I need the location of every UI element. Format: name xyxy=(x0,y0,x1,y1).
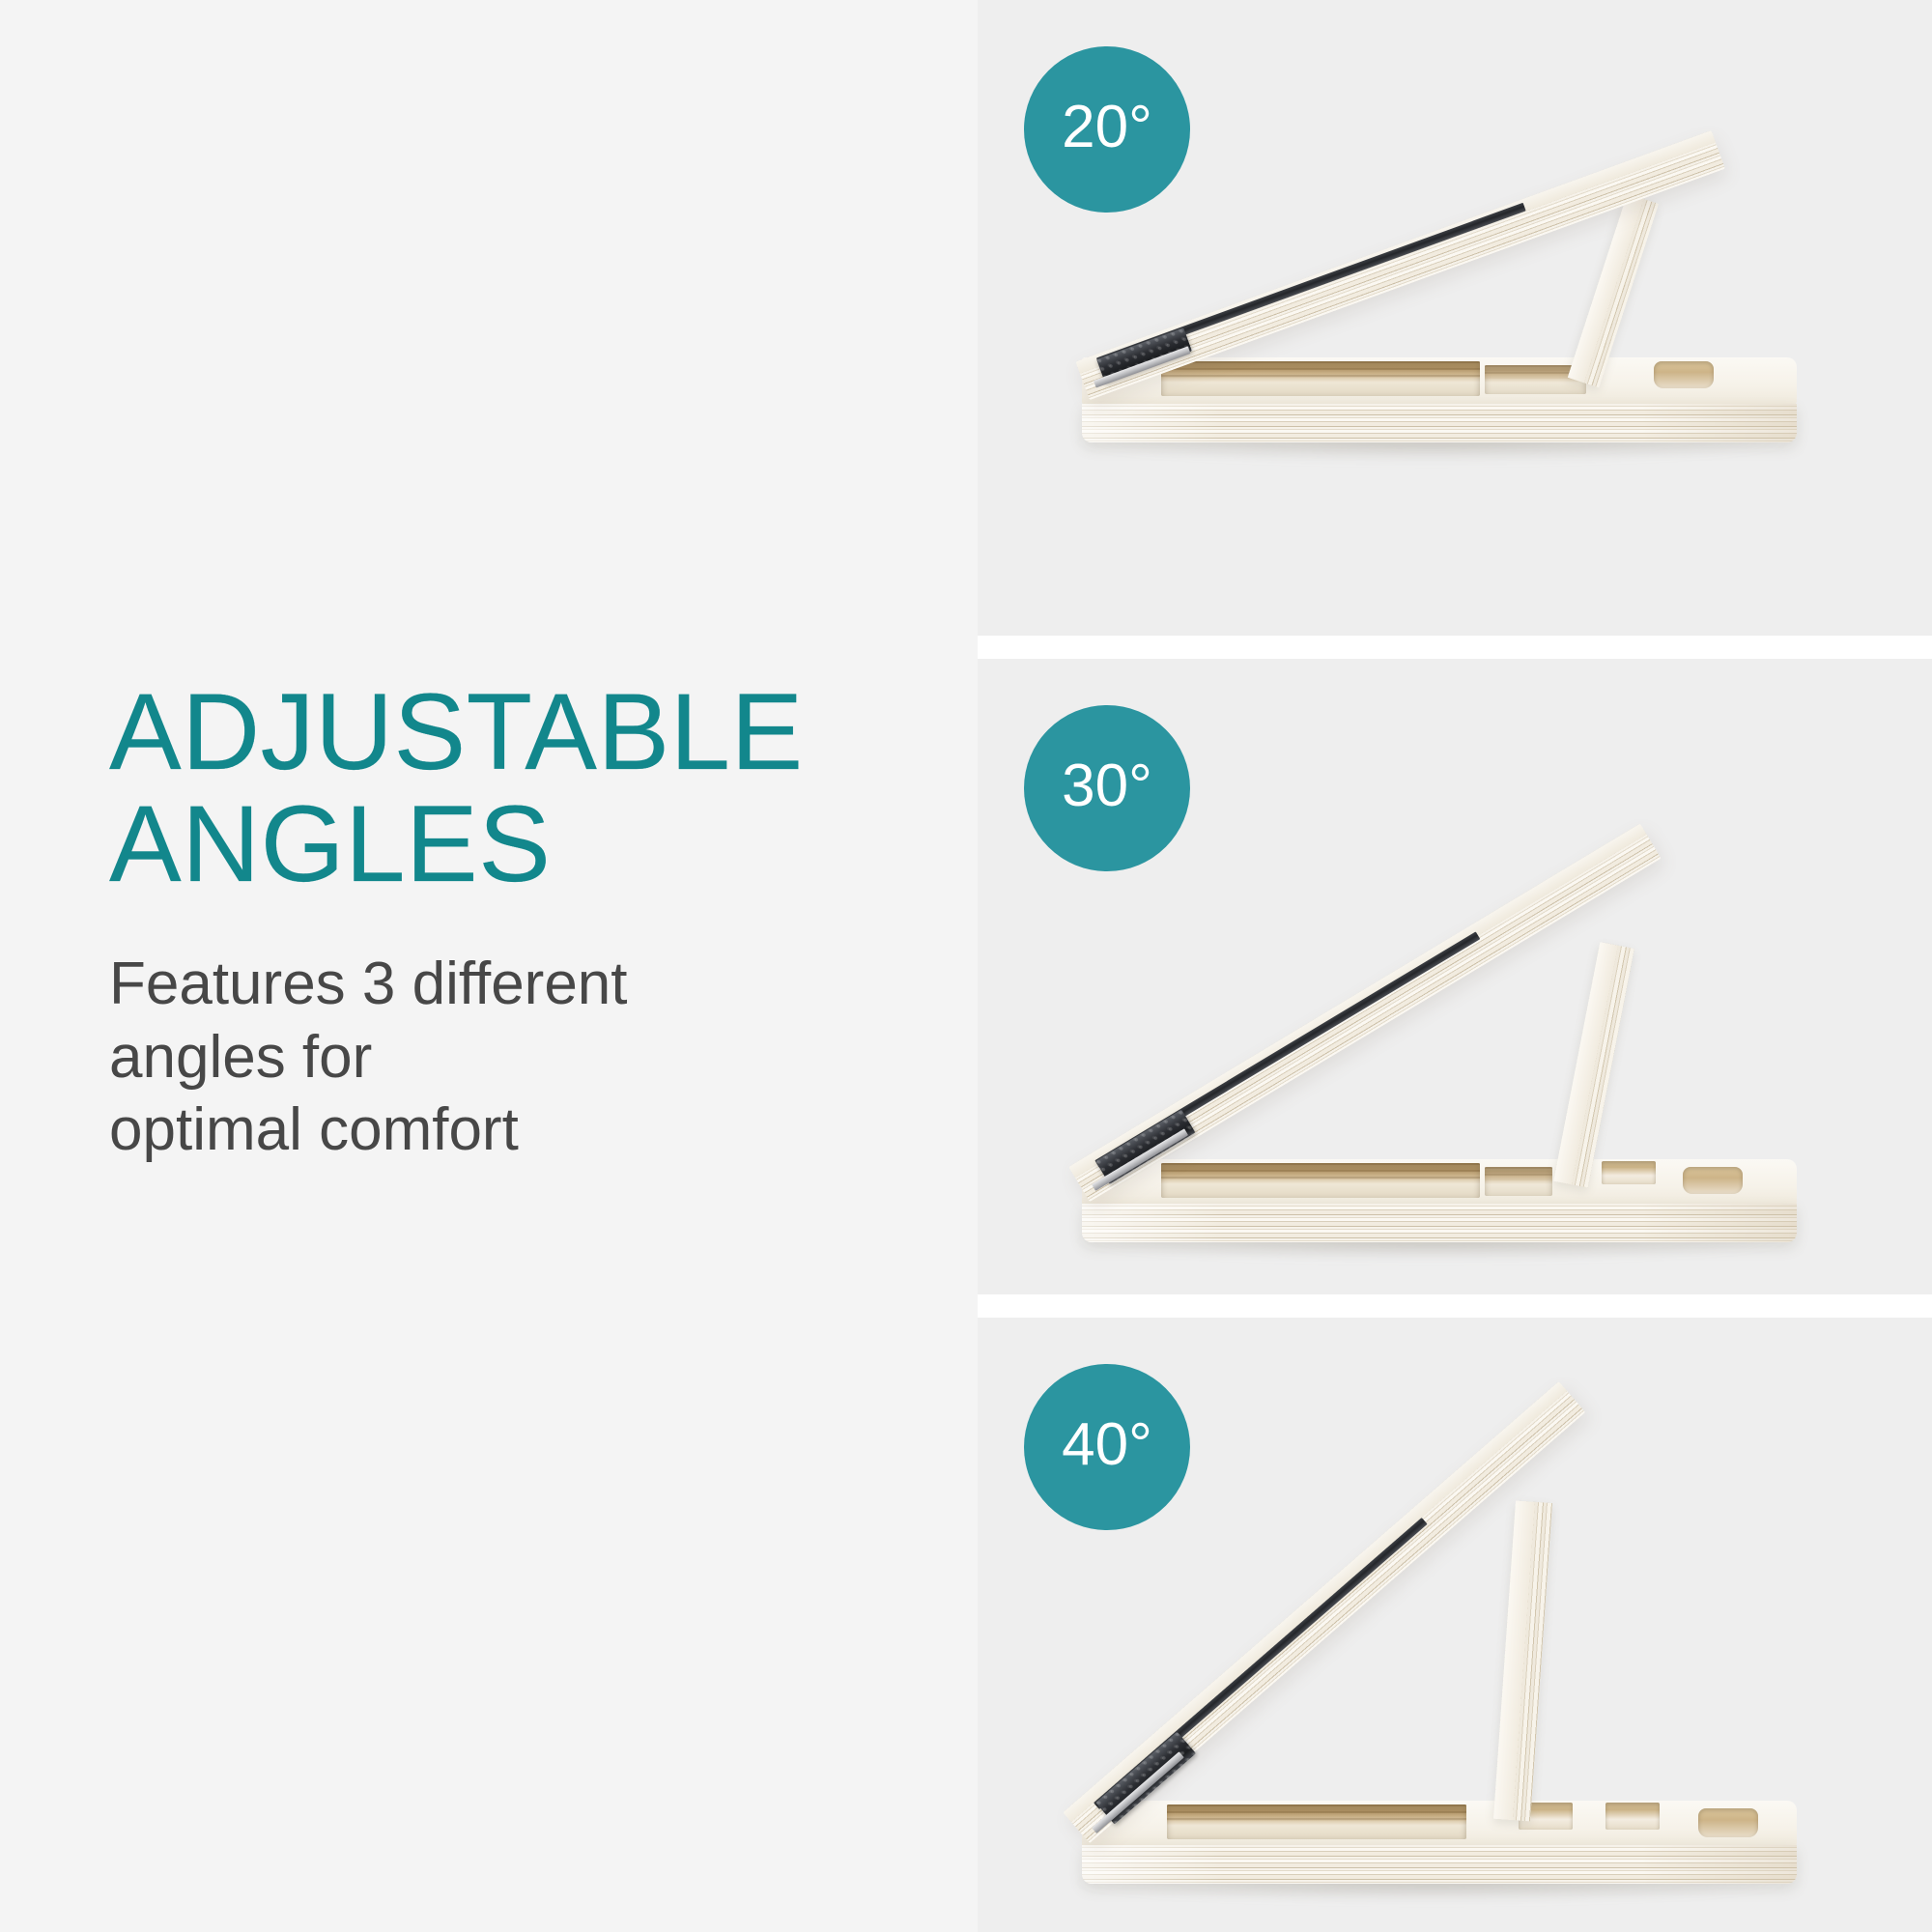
base-slot-2 xyxy=(1605,1803,1660,1830)
text-column: ADJUSTABLE ANGLES Features 3 different a… xyxy=(0,0,978,1932)
base-slot-1 xyxy=(1602,1161,1656,1184)
product-panel-20: 20° xyxy=(978,0,1932,636)
support-leg xyxy=(1493,1500,1552,1821)
base-front-edge xyxy=(1082,404,1797,442)
base-slot-round xyxy=(1683,1167,1743,1194)
angle-badge-label: 40° xyxy=(1062,1415,1152,1479)
page-title: ADJUSTABLE ANGLES xyxy=(109,676,901,901)
angle-badge-40: 40° xyxy=(1024,1364,1190,1530)
base-cavity xyxy=(1167,1804,1466,1839)
base-front-edge xyxy=(1082,1204,1797,1242)
base-cavity xyxy=(1161,1163,1480,1198)
base-cavity xyxy=(1161,361,1480,396)
angle-badge-label: 30° xyxy=(1062,756,1152,820)
angle-badge-20: 20° xyxy=(1024,46,1190,213)
product-panel-40: 40° xyxy=(978,1318,1932,1932)
cavity-grain xyxy=(1161,1163,1480,1179)
cavity-grain xyxy=(1167,1804,1466,1821)
base-slot-round xyxy=(1698,1808,1758,1837)
base-slot-round xyxy=(1654,361,1714,388)
product-panel-30: 30° xyxy=(978,659,1932,1294)
photo-panel-column: 20° xyxy=(978,0,1932,1932)
cavity-grain xyxy=(1485,1167,1552,1180)
support-leg xyxy=(1553,942,1634,1187)
text-block: ADJUSTABLE ANGLES Features 3 different a… xyxy=(109,676,901,1167)
cavity-grain xyxy=(1161,361,1480,378)
base-front-edge xyxy=(1082,1845,1797,1884)
angle-badge-30: 30° xyxy=(1024,705,1190,871)
infographic-root: ADJUSTABLE ANGLES Features 3 different a… xyxy=(0,0,1932,1932)
page-subtitle: Features 3 different angles for optimal … xyxy=(109,901,901,1167)
angle-badge-label: 20° xyxy=(1062,98,1152,161)
base-cavity-secondary xyxy=(1485,1167,1552,1196)
